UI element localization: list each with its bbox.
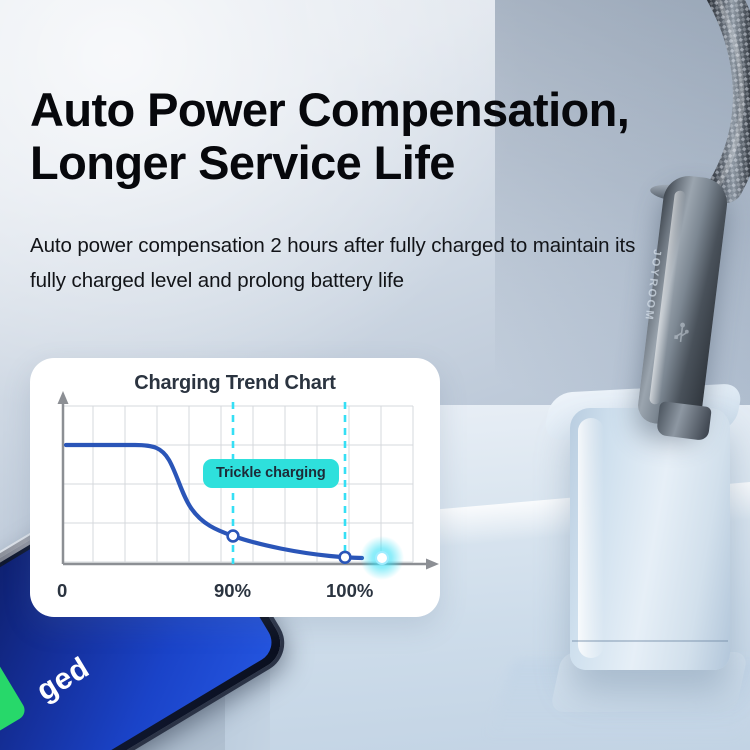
chart-xtick-0: 0 [57,580,67,602]
trickle-charging-badge: Trickle charging [203,459,339,488]
chart-marker-90 [228,531,239,542]
battery-full-icon [0,650,28,743]
charger-seam [572,640,728,642]
charger-highlight [578,418,604,658]
promo-image: JOYROOM ged Auto Power Compensation, Lon… [0,0,750,750]
chart-y-axis-arrow [58,391,69,404]
chart-marker-trickle [376,552,388,564]
chart-xtick-90: 90% [214,580,251,602]
connector-tip [656,401,712,441]
usb-icon [672,321,692,347]
page-subtitle: Auto power compensation 2 hours after fu… [30,228,650,299]
chart-xtick-100: 100% [326,580,373,602]
chart-marker-100 [340,552,351,563]
page-title: Auto Power Compensation, Longer Service … [30,84,630,189]
phone-status-text: ged [31,651,96,708]
chart-x-axis-arrow [426,559,439,570]
